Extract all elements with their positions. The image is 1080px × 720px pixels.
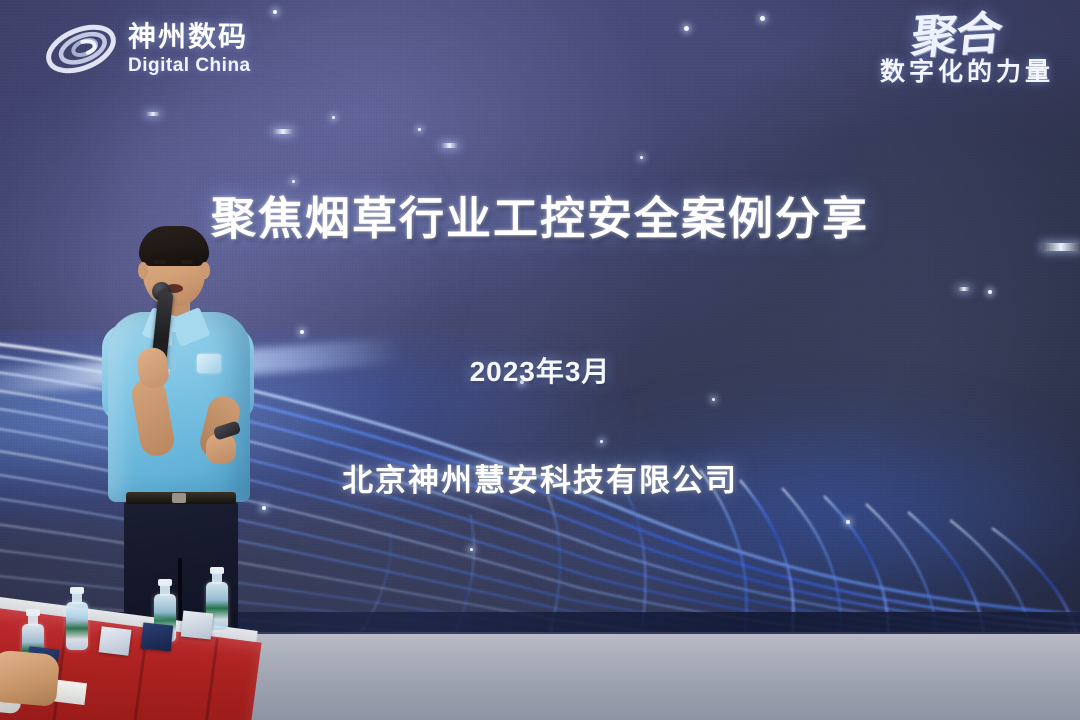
name-card <box>99 626 132 655</box>
name-card <box>181 611 214 640</box>
brand-name-en: Digital China <box>128 56 251 75</box>
presenter-shirt-badge <box>197 354 221 373</box>
presenter-placket <box>172 332 176 370</box>
presenter-eye-left <box>154 260 166 264</box>
presenter-ear-left <box>138 262 148 279</box>
presenter-brow-right <box>180 254 194 257</box>
conference-photo: 神州数码 Digital China 聚合 数字化的力量 聚焦烟草行业工控安全案… <box>0 0 1080 720</box>
presenter-belt-buckle <box>172 493 186 503</box>
presenter-brow-left <box>153 254 167 257</box>
digital-china-logo: 神州数码 Digital China <box>44 18 251 80</box>
name-card <box>141 623 174 652</box>
water-bottle <box>66 588 88 650</box>
event-logo: 聚合 数字化的力量 <box>880 14 1054 88</box>
presenter-hair <box>139 226 209 266</box>
head-table <box>0 566 270 720</box>
presenter-eye-right <box>181 260 193 264</box>
presenter-hand-left <box>136 347 170 390</box>
brand-name-cn: 神州数码 <box>128 23 251 51</box>
attendee-hand <box>0 649 60 707</box>
event-calligraphy: 聚合 <box>909 12 1002 59</box>
galaxy-swirl-icon <box>44 18 118 80</box>
presenter-ear-right <box>200 262 210 279</box>
